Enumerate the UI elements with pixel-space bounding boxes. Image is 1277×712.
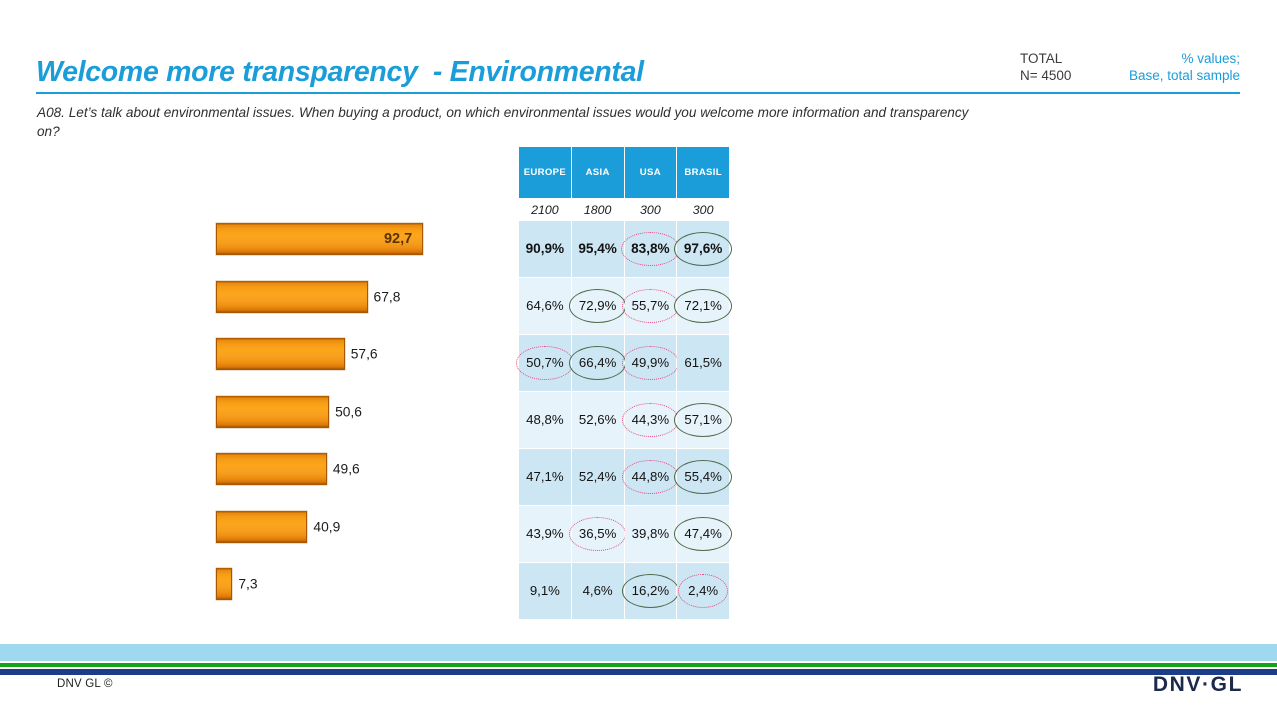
- bar-value-label: 7,3: [238, 577, 257, 592]
- table-cell[interactable]: 52,6%: [571, 392, 624, 449]
- total-meta: TOTAL N= 4500: [1020, 50, 1071, 84]
- bar-track: 49,6: [216, 453, 327, 485]
- table-cell[interactable]: 61,5%: [677, 335, 730, 392]
- table-cell[interactable]: 52,4%: [571, 449, 624, 506]
- bar-value-label: 57,6: [351, 347, 378, 362]
- above-average-marker: 16,2%: [628, 580, 673, 602]
- table-row: 9,1%4,6%16,2%2,4%: [519, 563, 730, 620]
- table-cell[interactable]: 16,2%: [624, 563, 677, 620]
- bar-track: 40,9: [216, 511, 307, 543]
- table-column-header[interactable]: BRASIL: [677, 147, 730, 199]
- below-average-marker: 83,8%: [627, 238, 674, 260]
- region-comparison-table: EUROPEASIAUSABRASIL 21001800300300 90,9%…: [518, 146, 729, 620]
- bar-track: 67,8: [216, 281, 368, 313]
- slide: Welcome more transparency - Environmenta…: [0, 0, 1277, 712]
- table-cell[interactable]: 44,3%: [624, 392, 677, 449]
- above-average-marker: 97,6%: [680, 238, 727, 260]
- bar-value-label: 49,6: [333, 462, 360, 477]
- sample-size-label: N= 4500: [1020, 67, 1071, 84]
- below-average-marker: 49,9%: [628, 352, 673, 374]
- table-body: 90,9%95,4%83,8%97,6%64,6%72,9%55,7%72,1%…: [519, 221, 730, 620]
- percent-values-note: % values;: [1104, 50, 1240, 67]
- bar-value-label: 92,7: [384, 231, 412, 247]
- bar[interactable]: 57,6: [216, 338, 345, 370]
- table-base-value: 2100: [519, 199, 572, 221]
- below-average-marker: 44,3%: [628, 409, 673, 431]
- above-average-marker: 72,1%: [680, 295, 725, 317]
- table-cell[interactable]: 64,6%: [519, 278, 572, 335]
- table-row: 50,7%66,4%49,9%61,5%: [519, 335, 730, 392]
- table-cell-value: 52,6%: [575, 409, 620, 431]
- table-cell[interactable]: 44,8%: [624, 449, 677, 506]
- table-cell-value: 47,1%: [522, 466, 567, 488]
- table-column-header[interactable]: ASIA: [571, 147, 624, 199]
- table-row: 48,8%52,6%44,3%57,1%: [519, 392, 730, 449]
- table-row: 64,6%72,9%55,7%72,1%: [519, 278, 730, 335]
- above-average-marker: 66,4%: [575, 352, 620, 374]
- below-average-marker: 50,7%: [522, 352, 567, 374]
- table-cell[interactable]: 47,1%: [519, 449, 572, 506]
- table-cell[interactable]: 39,8%: [624, 506, 677, 563]
- table-base-value: 300: [677, 199, 730, 221]
- table-cell-value: 43,9%: [522, 523, 567, 545]
- table-column-header[interactable]: EUROPE: [519, 147, 572, 199]
- below-average-marker: 55,7%: [628, 295, 673, 317]
- dnv-gl-logo: DNV·GL: [1153, 673, 1243, 697]
- table-cell-value: 39,8%: [628, 523, 673, 545]
- table-cell[interactable]: 50,7%: [519, 335, 572, 392]
- page-title: Welcome more transparency - Environmenta…: [36, 56, 644, 89]
- above-average-marker: 47,4%: [680, 523, 725, 545]
- bar[interactable]: 7,3: [216, 568, 232, 600]
- base-meta: % values; Base, total sample: [1104, 50, 1240, 84]
- above-average-marker: 72,9%: [575, 295, 620, 317]
- table-base-row: 21001800300300: [519, 199, 730, 221]
- table-base-value: 300: [624, 199, 677, 221]
- table-cell[interactable]: 95,4%: [571, 221, 624, 278]
- below-average-marker: 44,8%: [628, 466, 673, 488]
- bar-value-label: 50,6: [335, 405, 362, 420]
- table-row: 90,9%95,4%83,8%97,6%: [519, 221, 730, 278]
- footer-navy-band: [0, 669, 1277, 675]
- above-average-marker: 55,4%: [680, 466, 725, 488]
- table-row: 47,1%52,4%44,8%55,4%: [519, 449, 730, 506]
- table-cell[interactable]: 48,8%: [519, 392, 572, 449]
- table-cell[interactable]: 36,5%: [571, 506, 624, 563]
- title-divider: [36, 92, 1240, 94]
- table-cell[interactable]: 72,9%: [571, 278, 624, 335]
- table-header-row: EUROPEASIAUSABRASIL: [519, 147, 730, 199]
- table-cell[interactable]: 90,9%: [519, 221, 572, 278]
- bar[interactable]: 67,8: [216, 281, 368, 313]
- table-cell[interactable]: 66,4%: [571, 335, 624, 392]
- table-cell-value: 4,6%: [579, 580, 617, 602]
- table-row: 43,9%36,5%39,8%47,4%: [519, 506, 730, 563]
- bar[interactable]: 92,7: [216, 223, 423, 255]
- bar[interactable]: 40,9: [216, 511, 307, 543]
- table-cell[interactable]: 83,8%: [624, 221, 677, 278]
- table-cell[interactable]: 72,1%: [677, 278, 730, 335]
- table-cell[interactable]: 9,1%: [519, 563, 572, 620]
- table-base-value: 1800: [571, 199, 624, 221]
- table-cell[interactable]: 49,9%: [624, 335, 677, 392]
- total-label: TOTAL: [1020, 50, 1071, 67]
- bar[interactable]: 50,6: [216, 396, 329, 428]
- question-text: A08. Let’s talk about environmental issu…: [37, 103, 987, 141]
- table-cell[interactable]: 47,4%: [677, 506, 730, 563]
- table-cell-value: 48,8%: [522, 409, 567, 431]
- table-cell[interactable]: 97,6%: [677, 221, 730, 278]
- bar-track: 57,6: [216, 338, 345, 370]
- table-cell[interactable]: 43,9%: [519, 506, 572, 563]
- bar-value-label: 40,9: [313, 520, 340, 535]
- bar[interactable]: 49,6: [216, 453, 327, 485]
- table-cell-value: 52,4%: [575, 466, 620, 488]
- table-cell[interactable]: 4,6%: [571, 563, 624, 620]
- table-cell-value: 61,5%: [680, 352, 725, 374]
- footer-light-band: [0, 644, 1277, 661]
- below-average-marker: 36,5%: [575, 523, 620, 545]
- bar-value-label: 67,8: [374, 290, 401, 305]
- table-cell-value: 9,1%: [526, 580, 564, 602]
- table-column-header[interactable]: USA: [624, 147, 677, 199]
- bar-track: 7,3: [216, 568, 232, 600]
- table-cell-value: 64,6%: [522, 295, 567, 317]
- above-average-marker: 57,1%: [680, 409, 725, 431]
- table-cell[interactable]: 55,4%: [677, 449, 730, 506]
- base-total-sample-note: Base, total sample: [1104, 67, 1240, 84]
- table-cell[interactable]: 55,7%: [624, 278, 677, 335]
- bar-track: 50,6: [216, 396, 329, 428]
- table-cell-value: 95,4%: [574, 238, 621, 260]
- table-cell[interactable]: 57,1%: [677, 392, 730, 449]
- footer-copyright: DNV GL ©: [57, 678, 113, 690]
- bar-track: 92,7: [216, 223, 423, 255]
- table-cell-value: 90,9%: [522, 238, 569, 260]
- below-average-marker: 2,4%: [684, 580, 722, 602]
- table-cell[interactable]: 2,4%: [677, 563, 730, 620]
